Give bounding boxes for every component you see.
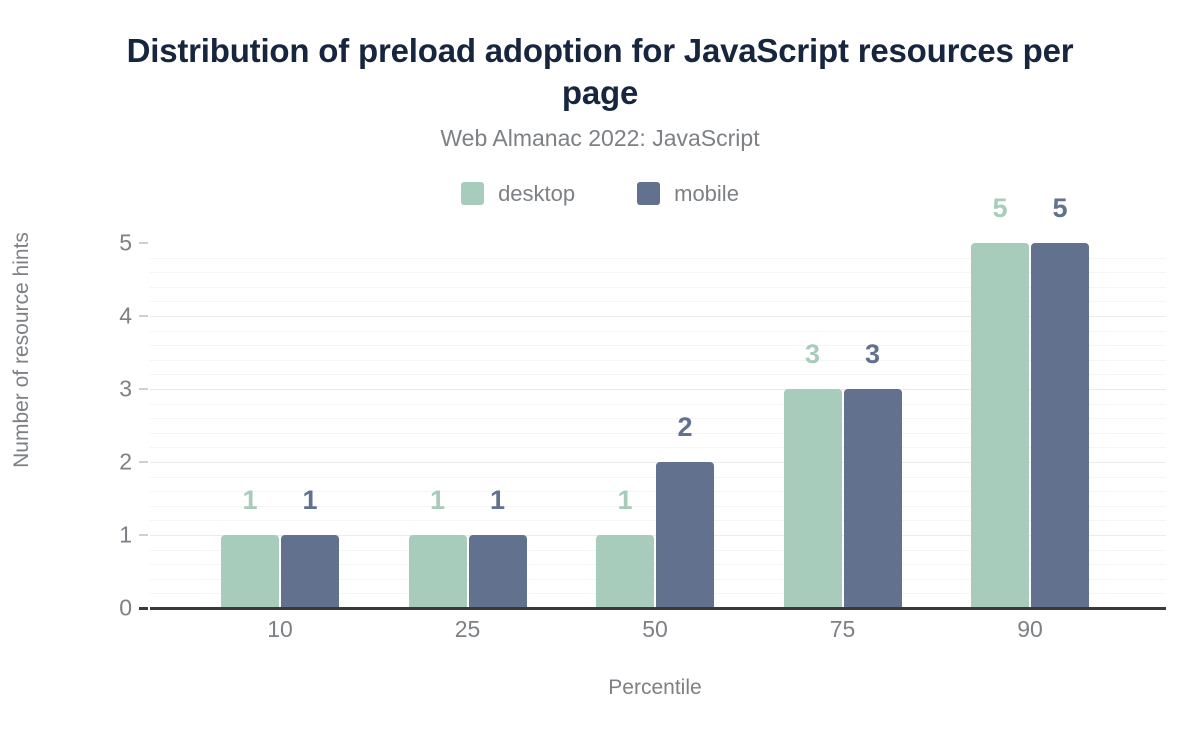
bar-mobile-p50[interactable] xyxy=(656,462,714,608)
y-tick-mark xyxy=(139,534,148,536)
y-tick-label: 2 xyxy=(32,451,132,474)
x-tick-label: 75 xyxy=(763,618,923,641)
y-tick-mark xyxy=(139,388,148,390)
chart-title: Distribution of preload adoption for Jav… xyxy=(90,30,1110,113)
y-tick-label: 0 xyxy=(32,597,132,620)
chart-legend: desktop mobile xyxy=(0,182,1200,205)
x-tick-label: 50 xyxy=(575,618,735,641)
y-axis-title: Number of resource hints xyxy=(10,70,34,630)
bar-mobile-p90[interactable] xyxy=(1031,243,1089,608)
title-block: Distribution of preload adoption for Jav… xyxy=(90,30,1110,153)
y-tick-label: 5 xyxy=(32,232,132,255)
legend-swatch-mobile xyxy=(637,182,660,205)
bar-mobile-p10[interactable] xyxy=(281,535,339,608)
y-tick-mark xyxy=(139,315,148,317)
x-tick-label: 25 xyxy=(388,618,548,641)
y-tick-label: 4 xyxy=(32,305,132,328)
legend-swatch-desktop xyxy=(461,182,484,205)
bar-mobile-p75[interactable] xyxy=(844,389,902,608)
x-axis-line xyxy=(150,607,1166,610)
x-tick-label: 10 xyxy=(200,618,360,641)
legend-item-desktop[interactable]: desktop xyxy=(461,182,575,205)
chart-subtitle: Web Almanac 2022: JavaScript xyxy=(90,125,1110,153)
bar-desktop-p90[interactable] xyxy=(971,243,1029,608)
x-tick-label: 90 xyxy=(950,618,1110,641)
legend-item-mobile[interactable]: mobile xyxy=(637,182,739,205)
y-tick-mark xyxy=(139,461,148,463)
chart-figure: Distribution of preload adoption for Jav… xyxy=(0,0,1200,742)
y-tick-mark xyxy=(139,607,148,610)
plot-area xyxy=(150,228,1166,608)
legend-label-desktop: desktop xyxy=(498,183,575,205)
legend-label-mobile: mobile xyxy=(674,183,739,205)
x-axis-title: Percentile xyxy=(0,676,1200,700)
bar-desktop-p75[interactable] xyxy=(784,389,842,608)
y-tick-label: 1 xyxy=(32,524,132,547)
bar-mobile-p25[interactable] xyxy=(469,535,527,608)
bar-desktop-p50[interactable] xyxy=(596,535,654,608)
y-tick-label: 3 xyxy=(32,378,132,401)
bar-desktop-p10[interactable] xyxy=(221,535,279,608)
bar-desktop-p25[interactable] xyxy=(409,535,467,608)
y-tick-mark xyxy=(139,242,148,244)
